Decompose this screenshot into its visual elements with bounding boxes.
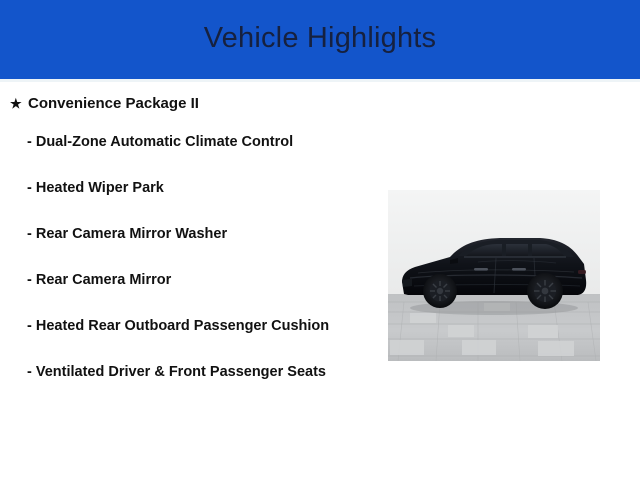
list-item: - Heated Wiper Park xyxy=(27,178,357,199)
content-area: ★ Convenience Package II - Dual-Zone Aut… xyxy=(0,82,640,480)
package-heading-label: Convenience Package II xyxy=(28,94,199,114)
vehicle-photo-image xyxy=(388,190,600,361)
list-item: - Dual-Zone Automatic Climate Control xyxy=(27,132,357,153)
star-icon: ★ xyxy=(10,94,28,114)
list-item: - Ventilated Driver & Front Passenger Se… xyxy=(27,362,357,383)
vehicle-photo xyxy=(388,190,600,361)
list-item: - Rear Camera Mirror Washer xyxy=(27,224,357,245)
feature-list: ★ Convenience Package II - Dual-Zone Aut… xyxy=(10,94,382,383)
list-item: - Heated Rear Outboard Passenger Cushion xyxy=(27,316,357,337)
header-banner: Vehicle Highlights xyxy=(0,0,640,79)
page-title: Vehicle Highlights xyxy=(204,24,437,55)
slide: Vehicle Highlights ★ Convenience Package… xyxy=(0,0,640,480)
package-heading: ★ Convenience Package II xyxy=(10,94,382,114)
list-item: - Rear Camera Mirror xyxy=(27,270,357,291)
